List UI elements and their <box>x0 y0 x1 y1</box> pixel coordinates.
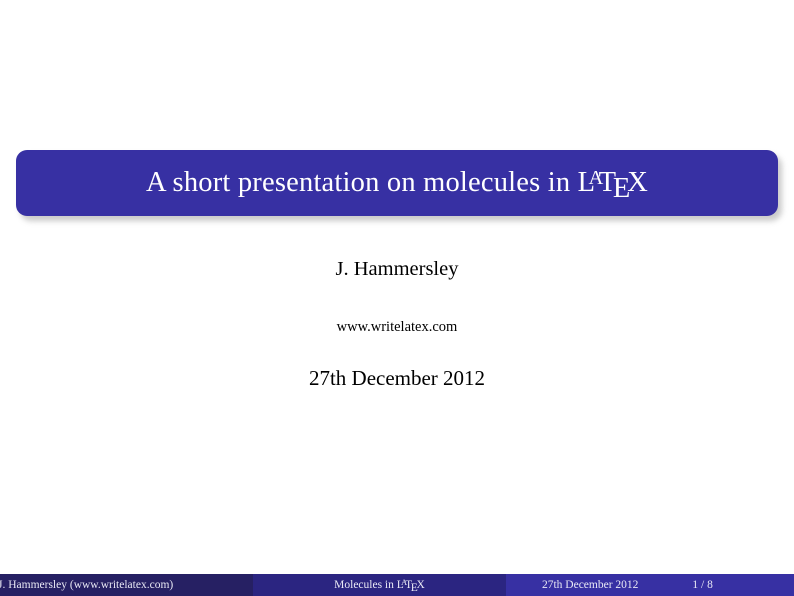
footer-latex-logo: LATEX <box>397 579 425 591</box>
title-block: A short presentation on molecules in LAT… <box>16 150 778 216</box>
page-title: A short presentation on molecules in LAT… <box>146 169 648 198</box>
footer-latex-a: A <box>401 578 407 587</box>
title-prefix-text: A short presentation on molecules in <box>146 167 578 198</box>
presentation-slide: A short presentation on molecules in LAT… <box>0 0 794 596</box>
institute-url: www.writelatex.com <box>0 320 794 335</box>
footer-date-text: 27th December 2012 <box>542 579 638 591</box>
footer-page-number: 1 / 8 <box>692 579 712 591</box>
footer-title-text: Molecules in LATEX <box>334 579 425 591</box>
latex-x: X <box>627 167 648 198</box>
footer-title-prefix: Molecules in <box>334 579 397 591</box>
title-block-container: A short presentation on molecules in LAT… <box>16 150 778 216</box>
footer-date-page-section: 27th December 2012 1 / 8 <box>506 574 794 596</box>
author-name: J. Hammersley <box>0 259 794 280</box>
slide-footer: J. Hammersley (www.writelatex.com) Molec… <box>0 574 794 596</box>
latex-logo: LATEX <box>578 167 648 198</box>
footer-title-section: Molecules in LATEX <box>253 574 506 596</box>
footer-author-section: J. Hammersley (www.writelatex.com) <box>0 574 253 596</box>
latex-a: A <box>589 167 604 189</box>
latex-e: E <box>613 173 631 204</box>
footer-author-text: J. Hammersley (www.writelatex.com) <box>0 579 173 591</box>
footer-latex-e: E <box>411 582 418 594</box>
presentation-date: 27th December 2012 <box>0 368 794 389</box>
